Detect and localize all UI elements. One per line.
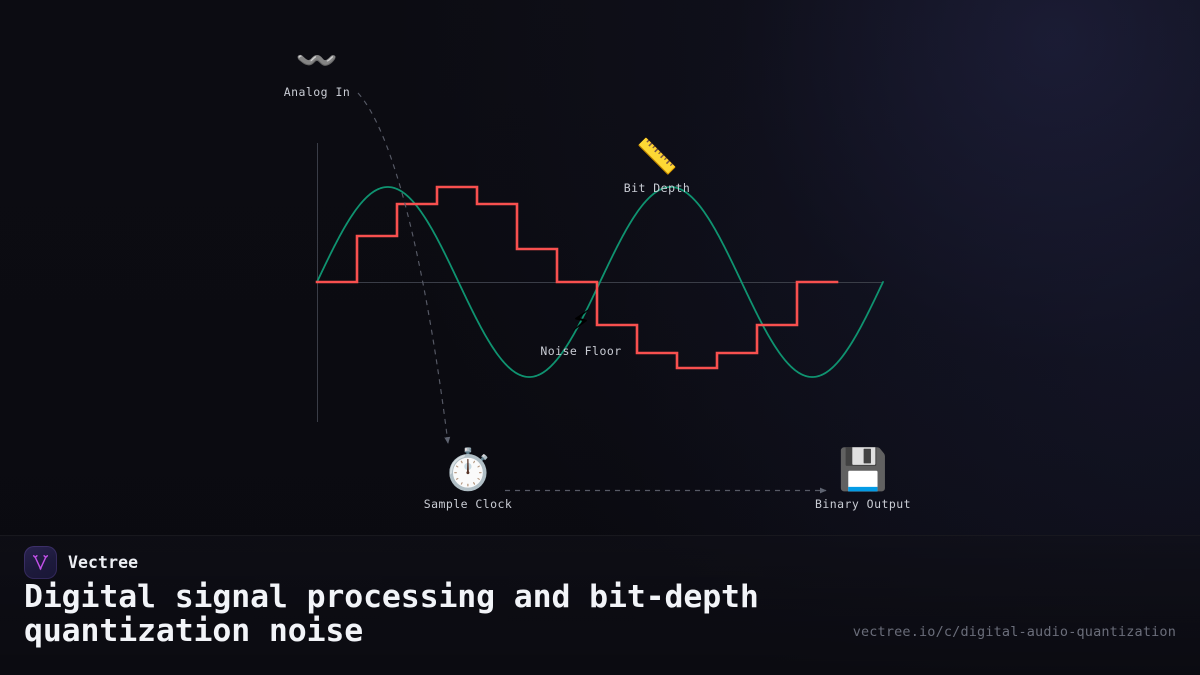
node-label-bit-depth: Bit Depth	[557, 181, 757, 195]
vectree-v-mark-icon	[24, 546, 57, 579]
canvas: 〰️ Analog In 📏 Bit Depth ⚡ Noise Floor ⏱…	[0, 0, 1200, 675]
node-binary-output[interactable]: 💾 Binary Output	[763, 450, 963, 511]
floppy-disk-icon: 💾	[763, 450, 963, 490]
footer-bar: Vectree Digital signal processing and bi…	[0, 535, 1200, 675]
connector-analog-to-clock	[358, 93, 448, 443]
node-analog-in[interactable]: 〰️ Analog In	[217, 44, 417, 99]
node-bit-depth[interactable]: 📏 Bit Depth	[557, 140, 757, 195]
node-label-sample-clock: Sample Clock	[368, 497, 568, 511]
node-noise-floor[interactable]: ⚡ Noise Floor	[481, 303, 681, 358]
node-label-analog-in: Analog In	[217, 85, 417, 99]
straight-ruler-icon: 📏	[557, 140, 757, 174]
high-voltage-icon: ⚡	[481, 303, 681, 337]
page-title: Digital signal processing and bit-depth …	[24, 581, 814, 648]
brand-name: Vectree	[68, 553, 138, 572]
signal-diagram	[0, 0, 1200, 540]
source-url: vectree.io/c/digital-audio-quantization	[853, 624, 1176, 640]
stopwatch-icon: ⏱️	[368, 450, 568, 490]
node-sample-clock[interactable]: ⏱️ Sample Clock	[368, 450, 568, 511]
wavy-dash-icon: 〰️	[217, 44, 417, 78]
brand[interactable]: Vectree	[24, 546, 138, 579]
node-label-noise-floor: Noise Floor	[481, 344, 681, 358]
node-label-binary-output: Binary Output	[763, 497, 963, 511]
